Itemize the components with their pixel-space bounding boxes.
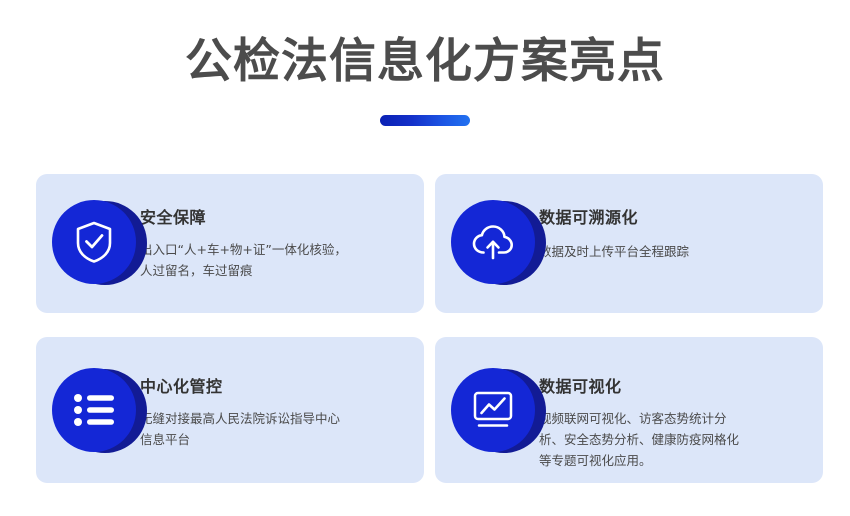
card-description: 数据及时上传平台全程跟踪 [539, 241, 689, 262]
highlight-card-grid: 安全保障 出入口“人+车+物+证”一体化核验，人过留名，车过留痕 数据可溯源化 … [36, 174, 815, 483]
list-icon [73, 393, 115, 427]
highlight-card-centralized-control[interactable]: 中心化管控 无缝对接最高人民法院诉讼指导中心信息平台 [36, 337, 424, 483]
cloud-upload-icon [470, 222, 516, 262]
card-body: 中心化管控 无缝对接最高人民法院诉讼指导中心信息平台 [140, 337, 368, 450]
shield-check-icon [74, 220, 114, 264]
icon-badge [435, 174, 539, 313]
card-heading: 中心化管控 [140, 377, 352, 397]
page-header: 公检法信息化方案亮点 [0, 32, 850, 126]
card-body: 安全保障 出入口“人+车+物+证”一体化核验，人过留名，车过留痕 [140, 174, 368, 281]
highlight-card-data-traceability[interactable]: 数据可溯源化 数据及时上传平台全程跟踪 [435, 174, 823, 313]
icon-badge [435, 337, 539, 483]
chart-monitor-icon [471, 390, 515, 430]
icon-badge-circle [451, 200, 535, 284]
card-heading: 数据可视化 [539, 377, 739, 397]
icon-badge-circle [451, 368, 535, 452]
highlight-card-data-visualization[interactable]: 数据可视化 视频联网可视化、访客态势统计分析、安全态势分析、健康防疫网格化等专题… [435, 337, 823, 483]
icon-badge [36, 337, 140, 483]
card-description: 出入口“人+车+物+证”一体化核验，人过留名，车过留痕 [140, 239, 352, 281]
card-body: 数据可溯源化 数据及时上传平台全程跟踪 [539, 174, 705, 262]
icon-badge [36, 174, 140, 313]
card-body: 数据可视化 视频联网可视化、访客态势统计分析、安全态势分析、健康防疫网格化等专题… [539, 337, 755, 471]
card-heading: 数据可溯源化 [539, 208, 689, 228]
page-title: 公检法信息化方案亮点 [0, 32, 850, 92]
highlights-page: 公检法信息化方案亮点 安全保障 出入口“人+车+物+证”一体化核验，人过留名，车… [0, 0, 850, 516]
icon-badge-circle [52, 200, 136, 284]
card-description: 视频联网可视化、访客态势统计分析、安全态势分析、健康防疫网格化等专题可视化应用。 [539, 408, 739, 471]
highlight-card-security[interactable]: 安全保障 出入口“人+车+物+证”一体化核验，人过留名，车过留痕 [36, 174, 424, 313]
card-description: 无缝对接最高人民法院诉讼指导中心信息平台 [140, 408, 352, 450]
title-underline-bar [380, 115, 470, 126]
card-heading: 安全保障 [140, 208, 352, 228]
icon-badge-circle [52, 368, 136, 452]
